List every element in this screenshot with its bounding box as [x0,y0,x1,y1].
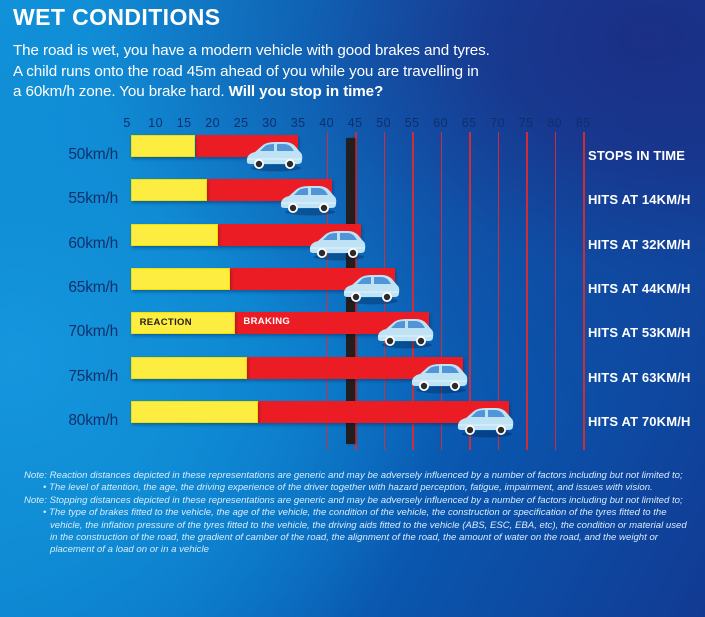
car-icon [340,271,402,305]
chart-row: 75km/hHITS AT 63KM/H [0,357,705,399]
axis-tick-25: 25 [226,116,256,130]
axis-tick-55: 55 [397,116,427,130]
reaction-distance-bar: REACTION [131,312,236,334]
reaction-distance-bar [131,135,196,157]
intro-line-3: a 60km/h zone. You brake hard. Will you … [13,82,693,103]
intro-line-2: A child runs onto the road 45m ahead of … [13,62,693,83]
axis-tick-85: 85 [568,116,598,130]
axis-tick-80: 80 [540,116,570,130]
row-speed-label: 70km/h [22,323,118,341]
row-outcome-label: HITS AT 70KM/H [588,414,691,429]
row-speed-label: 60km/h [22,235,118,253]
intro-line-3-plain: a 60km/h zone. You brake hard. [13,83,229,100]
row-speed-label: 75km/h [22,368,118,386]
axis-tick-5: 5 [112,116,142,130]
note-reaction-bullet: • The level of attention, the age, the d… [50,482,696,494]
axis-tick-45: 45 [340,116,370,130]
reaction-distance-bar [131,179,207,201]
axis-tick-75: 75 [511,116,541,130]
row-speed-label: 50km/h [22,146,118,164]
axis-tick-30: 30 [255,116,285,130]
note-stopping-bullet: • The type of brakes fitted to the vehic… [50,507,696,557]
row-outcome-label: STOPS IN TIME [588,148,685,163]
car-icon [277,182,339,216]
chart-row: 50km/hSTOPS IN TIME [0,135,705,177]
chart-area: 50km/hSTOPS IN TIME55km/hHITS AT 14KM/H6… [0,132,705,462]
reaction-segment-label: REACTION [140,317,192,328]
axis-tick-50: 50 [369,116,399,130]
intro-text: The road is wet, you have a modern vehic… [13,41,693,103]
note-stopping: Note: Stopping distances depicted in the… [24,495,696,507]
braking-segment-label: BRAKING [243,316,290,327]
footnotes: Note: Reaction distances depicted in the… [24,470,696,557]
row-speed-label: 80km/h [22,412,118,430]
chart-row: 70km/hBRAKINGREACTIONHITS AT 53KM/H [0,312,705,354]
intro-line-1: The road is wet, you have a modern vehic… [13,41,693,62]
car-icon [243,138,305,172]
axis-tick-65: 65 [454,116,484,130]
note-reaction: Note: Reaction distances depicted in the… [24,470,696,482]
car-icon [306,227,368,261]
reaction-distance-bar [131,357,247,379]
axis-tick-10: 10 [141,116,171,130]
distance-axis: 510152025303540455055606570758085 [0,116,705,132]
row-outcome-label: HITS AT 32KM/H [588,237,691,252]
reaction-distance-bar [131,401,259,423]
row-outcome-label: HITS AT 14KM/H [588,192,691,207]
row-outcome-label: HITS AT 53KM/H [588,325,691,340]
axis-tick-60: 60 [426,116,456,130]
row-speed-label: 65km/h [22,279,118,297]
axis-tick-70: 70 [483,116,513,130]
axis-tick-35: 35 [283,116,313,130]
header: WET CONDITIONS The road is wet, you have… [13,2,693,103]
row-speed-label: 55km/h [22,190,118,208]
intro-question: Will you stop in time? [229,83,384,100]
axis-tick-40: 40 [312,116,342,130]
axis-tick-20: 20 [198,116,228,130]
chart-row: 65km/hHITS AT 44KM/H [0,268,705,310]
infographic-root: WET CONDITIONS The road is wet, you have… [0,0,705,617]
reaction-distance-bar [131,268,230,290]
axis-tick-15: 15 [169,116,199,130]
car-icon [374,315,436,349]
row-outcome-label: HITS AT 63KM/H [588,370,691,385]
chart-row: 60km/hHITS AT 32KM/H [0,224,705,266]
row-outcome-label: HITS AT 44KM/H [588,281,691,296]
page-title: WET CONDITIONS [13,2,693,32]
car-icon [408,360,470,394]
chart-row: 80km/hHITS AT 70KM/H [0,401,705,443]
car-icon [454,404,516,438]
reaction-distance-bar [131,224,219,246]
chart-row: 55km/hHITS AT 14KM/H [0,179,705,221]
